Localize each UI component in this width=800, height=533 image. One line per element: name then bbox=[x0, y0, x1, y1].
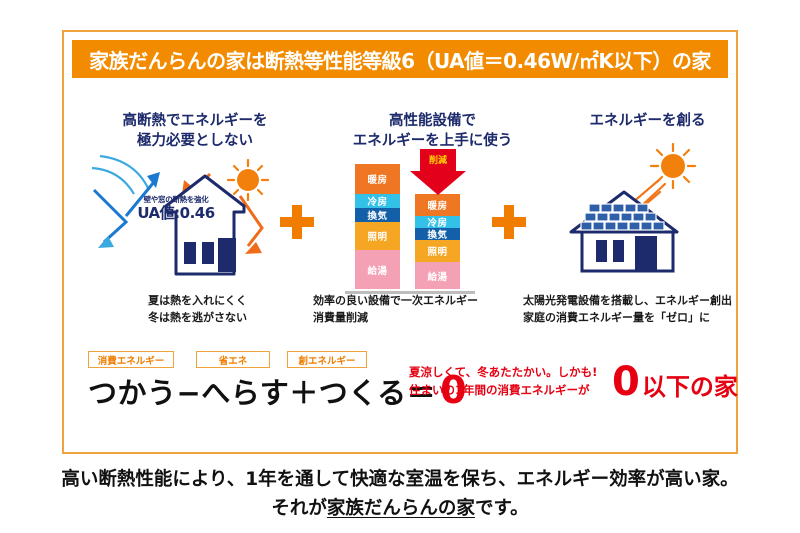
column-heading-insulation-line1: 高断熱でエネルギーを bbox=[95, 112, 295, 132]
house-body-icon bbox=[166, 176, 244, 274]
equation-expression: つかう−へらす＋つくる＝ bbox=[88, 370, 436, 412]
heat-outflow-arrow-icon bbox=[240, 196, 262, 246]
caption-efficiency: 効率の良い設備で一次エネルギー 消費量削減 bbox=[313, 293, 478, 326]
column-heading-efficiency: 高性能設備で エネルギーを上手に使う bbox=[325, 112, 540, 151]
caption-insulation-line1: 夏は熱を入れにくく bbox=[120, 293, 275, 310]
caption-efficiency-line1: 効率の良い設備で一次エネルギー bbox=[313, 293, 478, 310]
caption-insulation-line2: 冬は熱を逃がさない bbox=[120, 310, 275, 327]
bar-segment-lighting: 照明 bbox=[355, 222, 400, 250]
column-heading-insulation-line2: 極力必要としない bbox=[95, 132, 295, 152]
bottom-caption-prefix: それが bbox=[271, 498, 327, 519]
tag-consume-energy: 消費エネルギー bbox=[88, 351, 174, 368]
bottom-caption-suffix: です。 bbox=[475, 498, 529, 519]
heat-outflow-arrow-icon bbox=[147, 172, 160, 188]
energy-bar-chart: 暖房 冷房 換気 照明 給湯 暖房 冷房 換気 照明 給湯 削減 bbox=[335, 152, 485, 297]
column-heading-efficiency-line1: 高性能設備で bbox=[325, 112, 540, 132]
bar-segment-lighting: 照明 bbox=[415, 240, 460, 262]
bar-segment-hotwater: 給湯 bbox=[355, 250, 400, 289]
cold-wave-icon bbox=[92, 168, 134, 194]
caption-insulation: 夏は熱を入れにくく 冬は熱を逃がさない bbox=[120, 293, 275, 326]
heat-inflow-arrow-icon bbox=[98, 236, 114, 248]
title-banner: 家族だんらんの家は断熱等性能等級6（UA値＝0.46W/㎡K以下）の家 bbox=[72, 40, 728, 78]
bar-segment-heating: 暖房 bbox=[355, 164, 400, 194]
plus-icon bbox=[492, 205, 526, 239]
heat-outflow-arrow-icon bbox=[245, 242, 262, 254]
bottom-caption: 高い断熱性能により、1年を通して快適な室温を保ち、エネルギー効率が高い家。 それ… bbox=[0, 466, 800, 523]
equation-tail-zero: 0 bbox=[612, 362, 640, 402]
bar-segment-hotwater: 給湯 bbox=[415, 262, 460, 289]
house-icon bbox=[90, 150, 300, 295]
sun-icon bbox=[228, 160, 268, 200]
reduction-arrow: 削減 bbox=[407, 149, 469, 197]
equation-note: 夏涼しくて、冬あたたかい。しかも! 住まいの1年間の消費エネルギーが bbox=[409, 364, 597, 400]
column-heading-generation-line1: エネルギーを創る bbox=[560, 112, 735, 132]
bottom-caption-emphasis: 家族だんらんの家 bbox=[327, 498, 475, 519]
bar-segment-cooling: 冷房 bbox=[355, 194, 400, 208]
column-heading-insulation: 高断熱でエネルギーを 極力必要としない bbox=[95, 112, 295, 151]
equation-note-line1: 夏涼しくて、冬あたたかい。しかも! bbox=[409, 364, 597, 382]
tag-save-energy: 省エネ bbox=[196, 351, 270, 368]
caption-generation: 太陽光発電設備を搭載し、エネルギー創出 家庭の消費エネルギー量を「ゼロ」に bbox=[523, 293, 732, 326]
insulated-house-illustration: 壁や窓の断熱を強化 UA値:0.46 bbox=[90, 150, 300, 295]
caption-generation-line2: 家庭の消費エネルギー量を「ゼロ」に bbox=[523, 310, 732, 327]
column-heading-generation: エネルギーを創る bbox=[560, 112, 735, 132]
solar-panel-house-icon bbox=[525, 142, 740, 294]
equation-note-line2: 住まいの1年間の消費エネルギーが bbox=[409, 382, 597, 400]
bar-after: 暖房 冷房 換気 照明 給湯 bbox=[415, 194, 460, 289]
bottom-caption-line2: それが家族だんらんの家です。 bbox=[0, 495, 800, 524]
equation-tail-text: 以下の家 bbox=[642, 367, 738, 402]
caption-efficiency-line2: 消費量削減 bbox=[313, 310, 478, 327]
infographic-root: 家族だんらんの家は断熱等性能等級6（UA値＝0.46W/㎡K以下）の家 高断熱で… bbox=[0, 0, 800, 533]
plus-icon bbox=[280, 205, 314, 239]
bar-segment-ventilation: 換気 bbox=[415, 228, 460, 240]
heat-inflow-arrow-icon bbox=[94, 190, 126, 242]
bottom-caption-line1: 高い断熱性能により、1年を通して快適な室温を保ち、エネルギー効率が高い家。 bbox=[61, 469, 738, 490]
bar-before: 暖房 冷房 換気 照明 給湯 bbox=[355, 164, 400, 289]
title-text: 家族だんらんの家は断熱等性能等級6（UA値＝0.46W/㎡K以下）の家 bbox=[89, 45, 711, 74]
equation-tail: 0 以下の家 bbox=[612, 362, 738, 402]
reduction-arrow-label: 削減 bbox=[407, 153, 469, 166]
tag-create-energy: 創エネルギー bbox=[287, 351, 367, 368]
solar-house-illustration bbox=[525, 142, 740, 294]
house-body-icon bbox=[571, 192, 677, 271]
bar-segment-heating: 暖房 bbox=[415, 194, 460, 216]
bar-segment-ventilation: 換気 bbox=[355, 208, 400, 222]
caption-generation-line1: 太陽光発電設備を搭載し、エネルギー創出 bbox=[523, 293, 732, 310]
